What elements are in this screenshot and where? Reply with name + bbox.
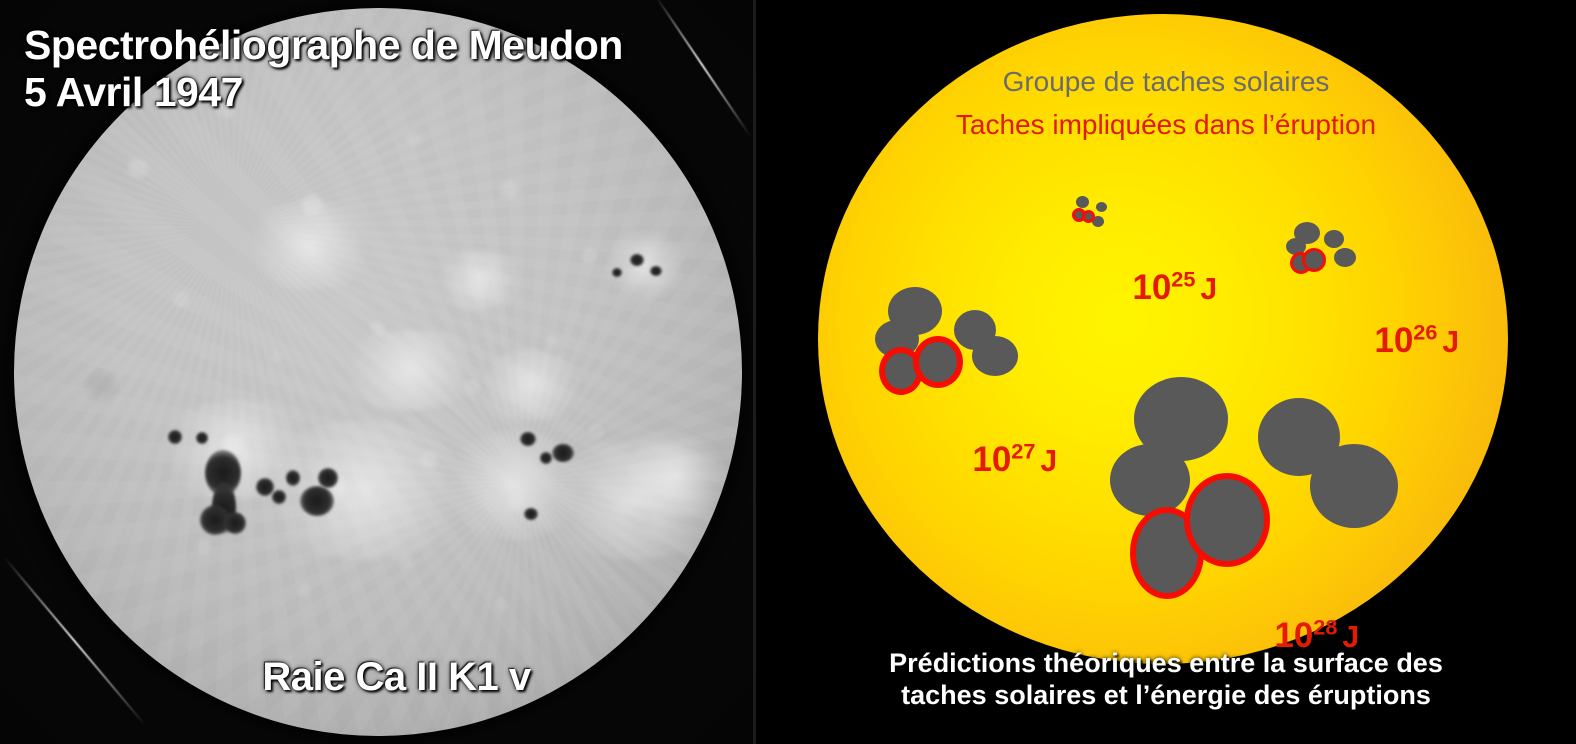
sunspot	[1110, 444, 1190, 516]
meudon-spectroheliogram-panel: Spectrohéliographe de Meudon 5 Avril 194…	[0, 0, 753, 744]
plage-region	[240, 200, 380, 290]
plage-region	[330, 330, 490, 410]
sunspot-umbra	[286, 470, 300, 486]
sunspot-umbra	[630, 254, 644, 266]
legend-item-sunspot-group: Groupe de taches solaires	[756, 66, 1576, 98]
sunspot	[1334, 248, 1356, 267]
sunspot-flare-involved	[913, 336, 963, 388]
energy-label-1e26: 1026J	[1316, 281, 1459, 401]
sunspot-umbra	[650, 266, 662, 276]
sunspot-umbra	[520, 432, 536, 446]
energy-label-1e27: 1027J	[914, 400, 1057, 520]
sunspot	[1310, 444, 1398, 528]
energy-exponent: 25	[1171, 266, 1195, 291]
energy-mantissa: 10	[972, 440, 1011, 479]
plage-region	[600, 230, 690, 300]
energy-exponent: 26	[1413, 319, 1437, 344]
plage-region	[430, 250, 530, 310]
energy-unit: J	[1195, 273, 1217, 306]
energy-unit: J	[1035, 445, 1057, 478]
sunspot	[1076, 196, 1089, 208]
energy-mantissa: 10	[1374, 321, 1413, 360]
energy-exponent: 28	[1313, 614, 1337, 639]
sunspot-umbra	[300, 486, 334, 516]
sunspot-umbra	[612, 268, 622, 277]
flare-energy-diagram-panel: Groupe de taches solaires Taches impliqu…	[756, 0, 1576, 744]
diagram-caption: Prédictions théoriques entre la surface …	[756, 648, 1576, 712]
sunspot-umbra	[168, 430, 182, 444]
sunspot-umbra	[524, 508, 538, 520]
sunspot-umbra	[540, 452, 552, 464]
spectral-line-label: Raie Ca II K1 v	[0, 655, 753, 701]
sunspot-umbra	[272, 490, 286, 504]
sunspot	[1324, 230, 1344, 248]
sunspot-umbra	[552, 444, 574, 462]
plage-region	[620, 430, 730, 520]
sunspot-flare-involved	[1302, 248, 1326, 272]
sunspot-umbra	[256, 478, 274, 496]
slide-canvas: Spectrohéliographe de Meudon 5 Avril 194…	[0, 0, 1576, 744]
sunspot-umbra	[318, 468, 338, 488]
energy-label-1e25: 1025J	[1074, 228, 1217, 348]
energy-unit: J	[1437, 326, 1459, 359]
plage-region	[470, 350, 590, 420]
sunspot-umbra	[196, 432, 208, 444]
legend-item-flare-involved-spots: Taches impliquées dans l’éruption	[756, 109, 1576, 141]
sunspot	[1096, 202, 1107, 212]
energy-exponent: 27	[1011, 438, 1035, 463]
sunspot-umbra	[224, 512, 246, 534]
sunspot	[972, 336, 1018, 376]
page-title: Spectrohéliographe de Meudon 5 Avril 194…	[24, 22, 623, 115]
energy-mantissa: 10	[1132, 268, 1171, 307]
sunspot-flare-involved	[1184, 473, 1270, 567]
sunspot-flare-involved	[1082, 210, 1095, 223]
